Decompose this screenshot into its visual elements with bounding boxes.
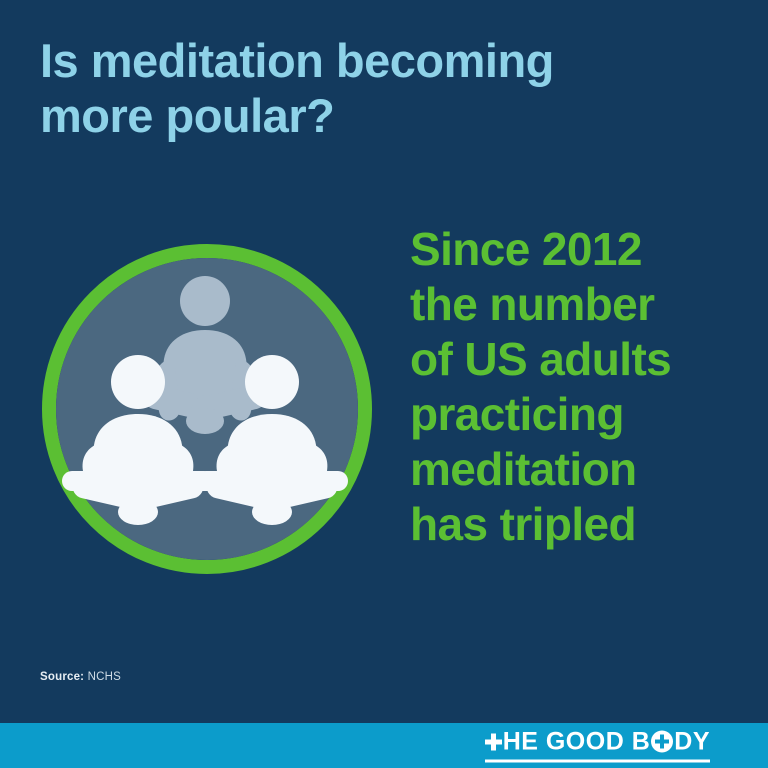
source-credit: Source: NCHS <box>40 671 121 683</box>
brand-logo-part2: DY <box>674 729 710 754</box>
footer-bar: HE GOOD B DY <box>0 723 768 768</box>
brand-logo-part1: HE GOOD B <box>503 729 651 754</box>
infographic-poster: Is meditation becoming more poular? <box>0 0 768 768</box>
meditation-illustration <box>42 244 372 574</box>
statistic-statement: Since 2012 the number of US adults pract… <box>410 222 755 552</box>
page-title: Is meditation becoming more poular? <box>40 33 740 143</box>
cross-in-circle-icon <box>651 731 673 753</box>
source-label: Source: <box>40 671 84 683</box>
source-value: NCHS <box>88 671 121 683</box>
plus-t-icon <box>485 733 502 750</box>
logo-underline <box>485 759 710 762</box>
brand-logo[interactable]: HE GOOD B DY <box>485 729 710 762</box>
three-meditating-figures-icon <box>42 244 372 574</box>
brand-logo-text: HE GOOD B DY <box>485 729 710 754</box>
